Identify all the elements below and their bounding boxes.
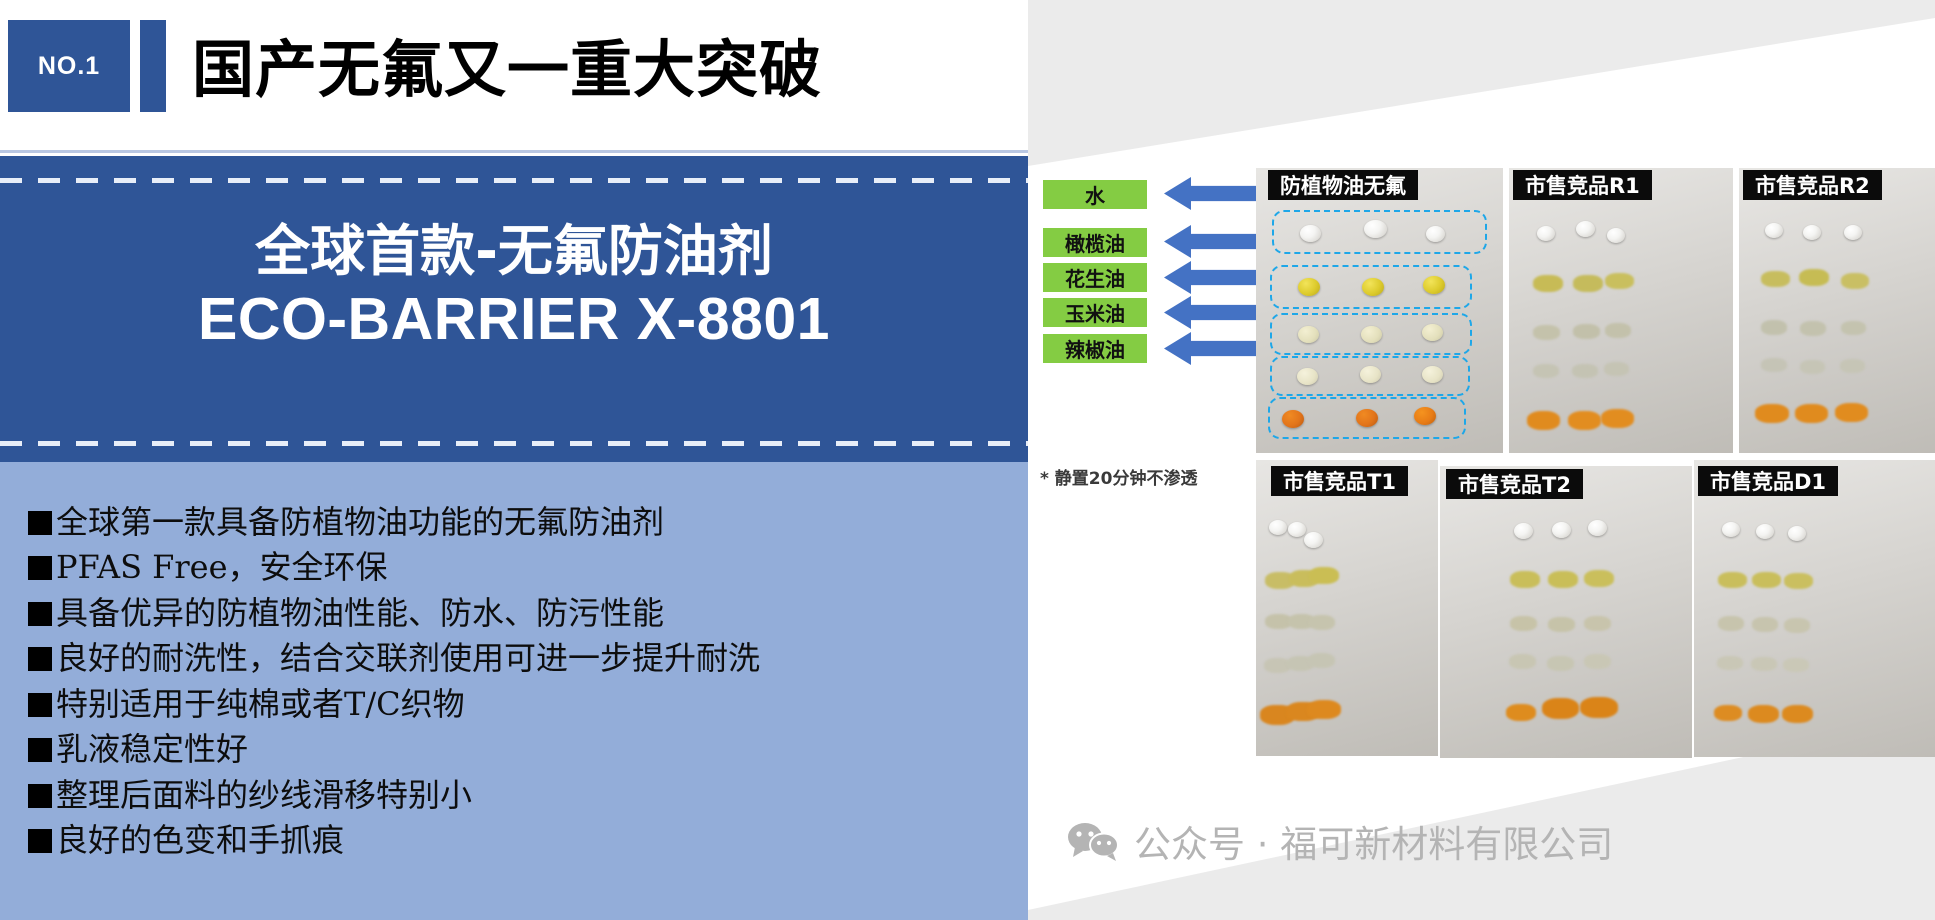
stain-spot <box>1542 698 1579 719</box>
stain-spot <box>1761 271 1790 287</box>
square-bullet-icon <box>28 556 52 580</box>
list-item: 全球第一款具备防植物油功能的无氟防油剂 <box>28 500 1028 545</box>
droplet-spot <box>1765 223 1783 238</box>
decorative-wedge-top <box>1028 0 1935 176</box>
stain-spot <box>1573 324 1600 339</box>
stain-spot <box>1510 616 1537 631</box>
stain-spot <box>1548 617 1575 632</box>
square-bullet-icon <box>28 602 52 626</box>
droplet-spot <box>1304 532 1323 548</box>
sample-panel-caption: 市售竞品D1 <box>1698 466 1838 496</box>
stain-spot <box>1748 705 1779 723</box>
droplet-spot <box>1844 225 1862 240</box>
liquid-label-chili-oil: 辣椒油 <box>1042 333 1148 364</box>
watermark: 公众号 · 福可新材料有限公司 <box>1066 814 1613 868</box>
stain-spot <box>1717 656 1743 670</box>
stain-spot <box>1800 360 1825 374</box>
liquid-label-text: 辣椒油 <box>1065 334 1125 363</box>
droplet-spot <box>1788 526 1806 541</box>
stain-spot <box>1572 364 1598 378</box>
pointer-arrow-olive-oil <box>1164 225 1264 258</box>
list-item-label: 乳液稳定性好 <box>56 727 248 772</box>
stain-spot <box>1309 567 1339 584</box>
square-bullet-icon <box>28 647 52 671</box>
no1-badge-label: NO.1 <box>38 52 100 81</box>
list-item-label: 良好的色变和手抓痕 <box>56 818 344 863</box>
highlight-box-olive-oil <box>1270 265 1472 309</box>
stain-spot <box>1309 615 1335 630</box>
banner-headline-cn: 全球首款-无氟防油剂 <box>0 218 1028 285</box>
stain-spot <box>1548 571 1578 588</box>
square-bullet-icon <box>28 693 52 717</box>
list-item: 乳液稳定性好 <box>28 727 1028 772</box>
slide-header: NO.1 国产无氟又一重大突破 <box>0 0 1028 152</box>
page-title: 国产无氟又一重大突破 <box>192 12 822 116</box>
highlight-box-chili-oil <box>1268 397 1466 439</box>
list-item-label: 整理后面料的纱线滑移特别小 <box>56 773 472 818</box>
stain-spot <box>1533 275 1563 292</box>
liquid-label-text: 水 <box>1085 180 1105 209</box>
sample-panel-r2: 市售竞品R2 <box>1739 168 1935 453</box>
banner-product-code: ECO-BARRIER X-8801 <box>0 285 1028 355</box>
stain-spot <box>1714 705 1742 721</box>
stain-spot <box>1761 320 1787 335</box>
liquid-label-text: 玉米油 <box>1065 298 1125 327</box>
droplet-spot <box>1607 228 1625 243</box>
banner-dashed-line-bottom <box>0 441 1028 446</box>
square-bullet-icon <box>28 829 52 853</box>
droplet-spot <box>1537 226 1555 241</box>
banner-text-block: 全球首款-无氟防油剂 ECO-BARRIER X-8801 <box>0 218 1028 355</box>
list-item: 整理后面料的纱线滑移特别小 <box>28 773 1028 818</box>
droplet-spot <box>1756 524 1774 539</box>
square-bullet-icon <box>28 784 52 808</box>
stain-spot <box>1533 364 1559 378</box>
header-divider <box>0 150 1028 153</box>
droplet-spot <box>1552 522 1571 538</box>
droplet-spot <box>1514 523 1533 539</box>
stain-spot <box>1840 359 1865 373</box>
list-item: 具备优异的防植物油性能、防水、防污性能 <box>28 591 1028 636</box>
stain-spot <box>1601 409 1634 428</box>
droplet-spot <box>1722 522 1740 537</box>
stain-spot <box>1580 697 1618 718</box>
stain-spot <box>1835 403 1868 422</box>
banner-dashed-line-top <box>0 178 1028 183</box>
stain-spot <box>1605 323 1631 338</box>
list-item: PFAS Free，安全环保 <box>28 545 1028 590</box>
square-bullet-icon <box>28 738 52 762</box>
highlight-box-corn-oil <box>1270 356 1470 396</box>
sample-panel-caption: 防植物油无氟 <box>1268 170 1418 200</box>
sample-panel-caption: 市售竞品T1 <box>1271 466 1408 496</box>
list-item-label: 全球第一款具备防植物油功能的无氟防油剂 <box>56 500 664 545</box>
list-item: 良好的色变和手抓痕 <box>28 818 1028 863</box>
sample-panel-d1: 市售竞品D1 <box>1694 460 1935 757</box>
pointer-arrow-chili-oil <box>1164 332 1264 365</box>
stain-spot <box>1718 572 1747 588</box>
list-item-label: 特别适用于纯棉或者T/C织物 <box>56 682 465 727</box>
pointer-arrow-peanut-oil <box>1164 261 1264 294</box>
droplet-spot <box>1588 520 1607 536</box>
sample-panel-treated: 防植物油无氟 <box>1256 168 1503 453</box>
square-bullet-icon <box>28 511 52 535</box>
stain-spot <box>1795 404 1828 423</box>
watermark-text: 公众号 · 福可新材料有限公司 <box>1134 814 1613 868</box>
stain-spot <box>1584 570 1614 587</box>
stain-spot <box>1308 653 1335 668</box>
liquid-label-peanut-oil: 花生油 <box>1042 262 1148 293</box>
feature-bullet-list: 全球第一款具备防植物油功能的无氟防油剂 PFAS Free，安全环保 具备优异的… <box>0 462 1028 920</box>
right-evidence-column: 水 橄榄油 花生油 玉米油 辣椒油 * 静置20分钟不渗透 防植物油无氟 <box>1028 0 1935 920</box>
liquid-label-water: 水 <box>1042 179 1148 210</box>
product-banner: 全球首款-无氟防油剂 ECO-BARRIER X-8801 <box>0 156 1028 462</box>
list-item: 良好的耐洗性，结合交联剂使用可进一步提升耐洗 <box>28 636 1028 681</box>
stain-spot <box>1604 362 1629 376</box>
stain-spot <box>1506 704 1536 721</box>
stain-spot <box>1547 656 1574 671</box>
stain-spot <box>1784 618 1810 633</box>
droplet-spot <box>1576 221 1595 237</box>
stain-spot <box>1510 571 1540 588</box>
stain-spot <box>1752 572 1781 588</box>
stain-spot <box>1527 411 1560 430</box>
stain-spot <box>1584 654 1611 669</box>
stain-spot <box>1784 573 1813 589</box>
stain-spot <box>1799 269 1829 286</box>
stain-spot <box>1783 658 1809 672</box>
stain-spot <box>1307 700 1341 719</box>
sample-panel-t2: 市售竞品T2 <box>1440 466 1692 758</box>
list-item-label: PFAS Free，安全环保 <box>56 545 388 590</box>
wechat-icon <box>1066 821 1122 861</box>
liquid-label-olive-oil: 橄榄油 <box>1042 227 1148 258</box>
stain-spot <box>1509 654 1536 669</box>
list-item-label: 具备优异的防植物油性能、防水、防污性能 <box>56 591 664 636</box>
stain-spot <box>1568 411 1601 430</box>
sample-panel-r1: 市售竞品R1 <box>1509 168 1733 453</box>
droplet-spot <box>1288 522 1306 537</box>
stain-spot <box>1800 321 1826 336</box>
stain-spot <box>1841 273 1869 289</box>
no1-badge: NO.1 <box>8 20 130 112</box>
stain-spot <box>1605 273 1634 289</box>
highlight-box-peanut-oil <box>1270 313 1472 355</box>
sample-panel-caption: 市售竞品R2 <box>1743 170 1882 200</box>
liquid-label-text: 橄榄油 <box>1065 228 1125 257</box>
stain-spot <box>1782 705 1813 723</box>
liquid-label-text: 花生油 <box>1065 263 1125 292</box>
stain-spot <box>1751 657 1777 671</box>
list-item-label: 良好的耐洗性，结合交联剂使用可进一步提升耐洗 <box>56 636 760 681</box>
stain-spot <box>1761 358 1787 372</box>
pointer-arrow-water <box>1164 177 1264 210</box>
pointer-arrow-corn-oil <box>1164 296 1264 329</box>
list-item: 特别适用于纯棉或者T/C织物 <box>28 682 1028 727</box>
sample-panel-t1: 市售竞品T1 <box>1256 460 1438 756</box>
droplet-spot <box>1269 520 1287 535</box>
header-accent-bar <box>140 20 166 112</box>
stain-spot <box>1718 616 1744 631</box>
footnote-text: * 静置20分钟不渗透 <box>1040 464 1197 489</box>
highlight-box-water <box>1272 210 1487 254</box>
stain-spot <box>1573 275 1603 292</box>
stain-spot <box>1755 404 1789 423</box>
sample-panel-caption: 市售竞品T2 <box>1446 469 1583 499</box>
liquid-label-corn-oil: 玉米油 <box>1042 297 1148 328</box>
stain-spot <box>1533 325 1560 340</box>
stain-spot <box>1841 321 1866 335</box>
left-content-column: NO.1 国产无氟又一重大突破 全球首款-无氟防油剂 ECO-BARRIER X… <box>0 0 1028 920</box>
droplet-spot <box>1803 225 1821 240</box>
slide-canvas: NO.1 国产无氟又一重大突破 全球首款-无氟防油剂 ECO-BARRIER X… <box>0 0 1935 920</box>
stain-spot <box>1584 616 1611 631</box>
sample-panel-caption: 市售竞品R1 <box>1513 170 1652 200</box>
stain-spot <box>1752 617 1778 632</box>
